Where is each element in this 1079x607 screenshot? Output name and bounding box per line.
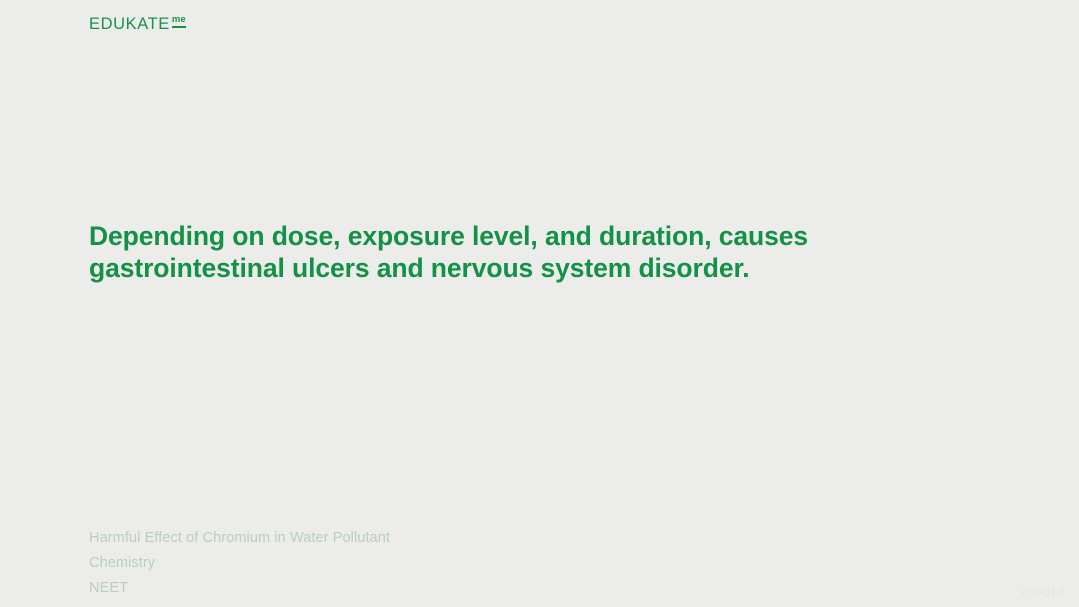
- slide-canvas: EDUKATE me Depending on dose, exposure l…: [0, 0, 1079, 607]
- corner-watermark-code: 250614: [1020, 585, 1065, 599]
- slide-footer: Harmful Effect of Chromium in Water Poll…: [89, 526, 390, 601]
- brand-superscript: me: [172, 15, 186, 28]
- slide-headline: Depending on dose, exposure level, and d…: [89, 220, 889, 284]
- footer-exam: NEET: [89, 576, 390, 601]
- footer-subject: Chemistry: [89, 551, 390, 576]
- brand-logo[interactable]: EDUKATE me: [89, 16, 186, 33]
- brand-name: EDUKATE: [89, 16, 170, 33]
- footer-topic: Harmful Effect of Chromium in Water Poll…: [89, 526, 390, 551]
